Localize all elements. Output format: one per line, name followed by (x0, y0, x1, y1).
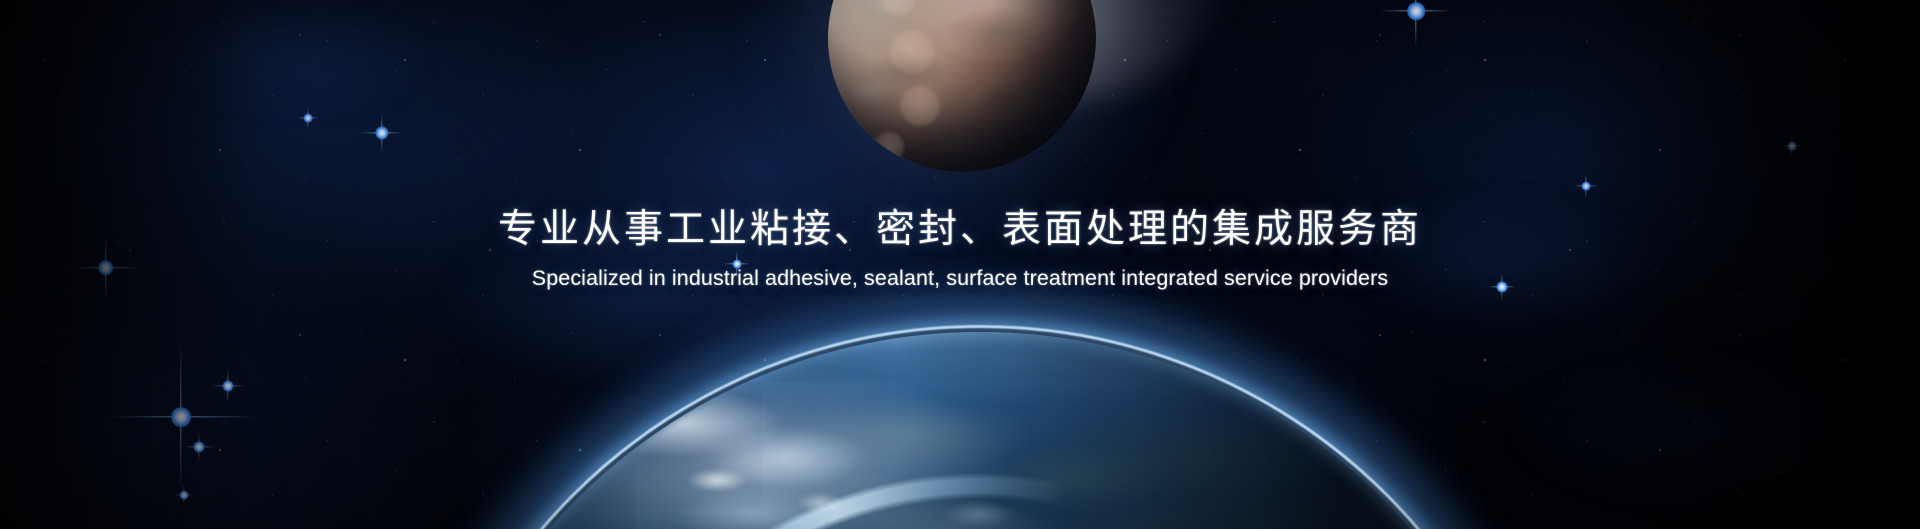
rocky-planet (828, 0, 1096, 172)
hero-headline-chinese: 专业从事工业粘接、密封、表面处理的集成服务商 (0, 206, 1920, 254)
hero-headline-block: 专业从事工业粘接、密封、表面处理的集成服务商 Specialized in in… (0, 206, 1920, 291)
hero-headline-english: Specialized in industrial adhesive, seal… (0, 265, 1920, 292)
earth-horizon (410, 332, 1550, 529)
earth-limb-hotspot (380, 302, 1580, 529)
hero-banner: 专业从事工业粘接、密封、表面处理的集成服务商 Specialized in in… (0, 0, 1920, 529)
